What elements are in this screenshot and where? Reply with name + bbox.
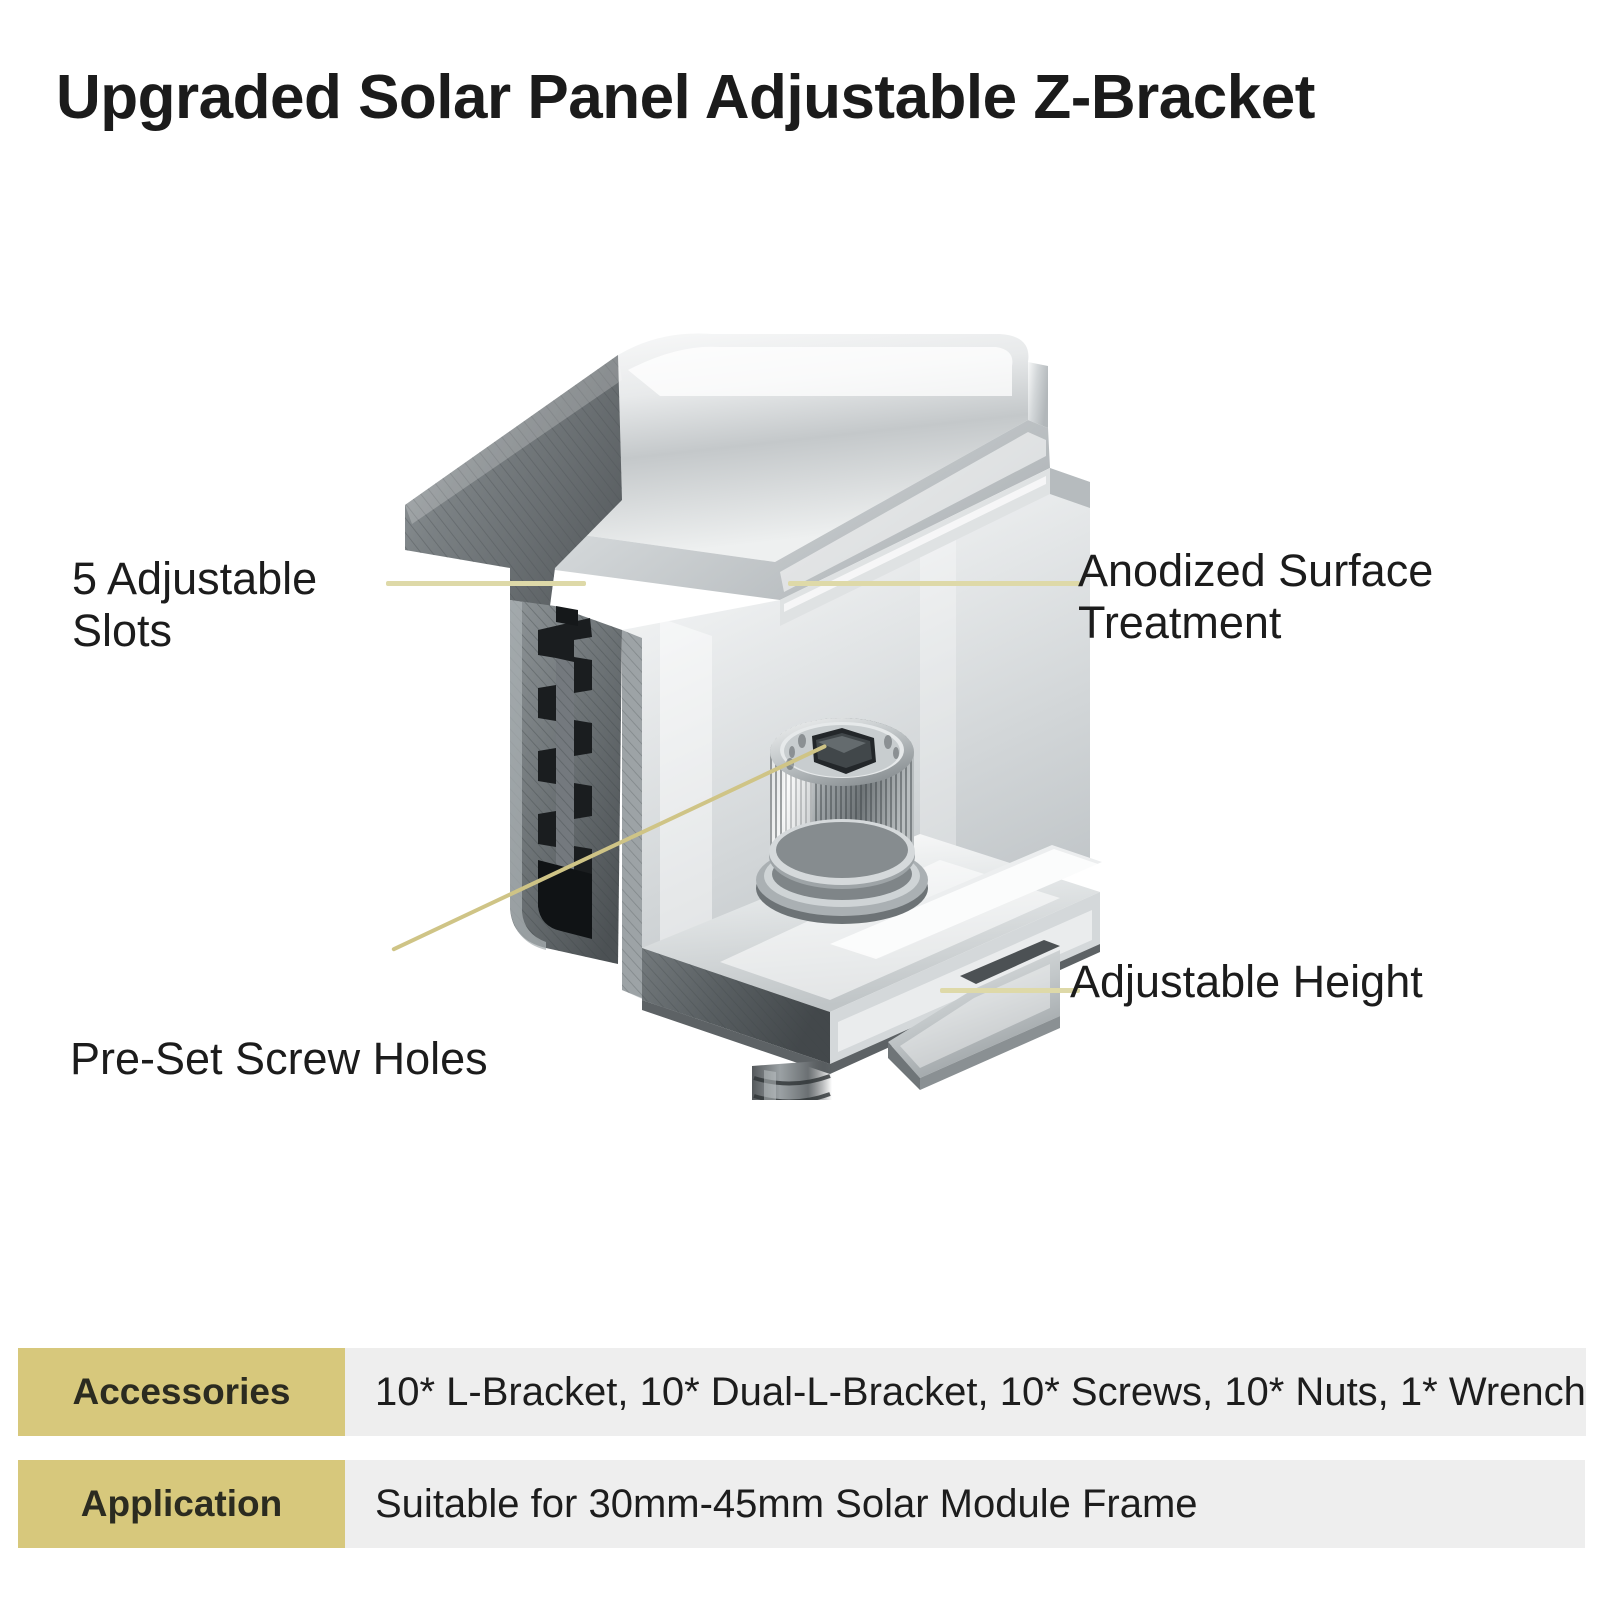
callout-label-anodized-surface: Anodized Surface Treatment bbox=[1078, 545, 1558, 649]
callout-label-preset-screw-holes: Pre-Set Screw Holes bbox=[70, 1033, 690, 1085]
callout-label-adjustable-height: Adjustable Height bbox=[1070, 956, 1570, 1008]
leader-line-height bbox=[940, 988, 1080, 993]
hex-socket-cap-screw[interactable] bbox=[756, 718, 928, 924]
table-row: Application Suitable for 30mm-45mm Solar… bbox=[18, 1460, 1585, 1548]
z-bracket-icon bbox=[360, 300, 1120, 1100]
leader-line-anodized bbox=[788, 581, 1080, 586]
product-image bbox=[360, 300, 1120, 1100]
spec-key-application: Application bbox=[18, 1460, 345, 1548]
spec-key-accessories: Accessories bbox=[18, 1348, 345, 1436]
page-title: Upgraded Solar Panel Adjustable Z-Bracke… bbox=[56, 62, 1556, 133]
serrated-channel bbox=[510, 600, 622, 964]
spec-value-accessories: 10* L-Bracket, 10* Dual-L-Bracket, 10* S… bbox=[345, 1348, 1586, 1436]
spec-table: Accessories 10* L-Bracket, 10* Dual-L-Br… bbox=[18, 1348, 1585, 1572]
callout-label-adjustable-slots: 5 Adjustable Slots bbox=[72, 553, 492, 657]
infographic-page: Upgraded Solar Panel Adjustable Z-Bracke… bbox=[0, 0, 1600, 1600]
spec-value-application: Suitable for 30mm-45mm Solar Module Fram… bbox=[345, 1460, 1585, 1548]
threaded-stud bbox=[752, 1060, 832, 1100]
table-row: Accessories 10* L-Bracket, 10* Dual-L-Br… bbox=[18, 1348, 1585, 1436]
